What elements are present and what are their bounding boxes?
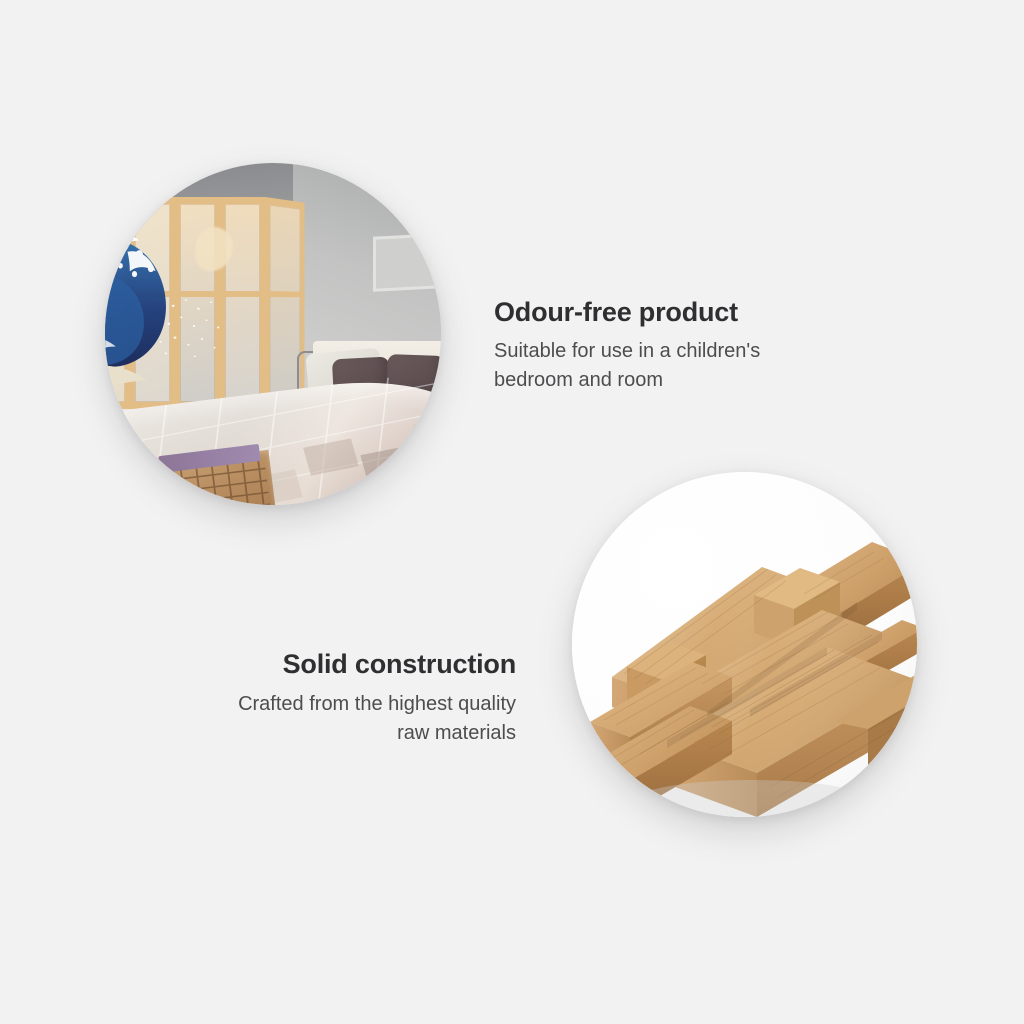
feature-description-line1: Suitable for use in a children's (494, 340, 760, 362)
feature-title: Odour-free product (494, 296, 894, 328)
feature-solid-construction-text: Solid construction Crafted from the high… (110, 648, 516, 747)
feature-title: Solid construction (110, 648, 516, 680)
stacked-timber-planks-photo (572, 472, 917, 817)
feature-description-line2: bedroom and room (494, 369, 663, 391)
timber-scene (572, 472, 917, 817)
feature-description: Suitable for use in a children's bedroom… (494, 337, 894, 394)
screen-panel (105, 197, 130, 409)
feature-description-line1: Crafted from the highest quality (238, 693, 516, 715)
screen-spray-dots (139, 290, 229, 362)
bedroom-scene (105, 163, 441, 505)
wall-picture-frame (373, 233, 440, 291)
feature-description: Crafted from the highest quality raw mat… (110, 690, 516, 747)
feature-description-line2: raw materials (397, 722, 516, 744)
room-divider-screen (105, 197, 310, 409)
infographic-canvas: Odour-free product Suitable for use in a… (0, 0, 1024, 1024)
bedroom-with-room-divider-photo (105, 163, 441, 505)
feature-odour-free-text: Odour-free product Suitable for use in a… (494, 296, 894, 394)
